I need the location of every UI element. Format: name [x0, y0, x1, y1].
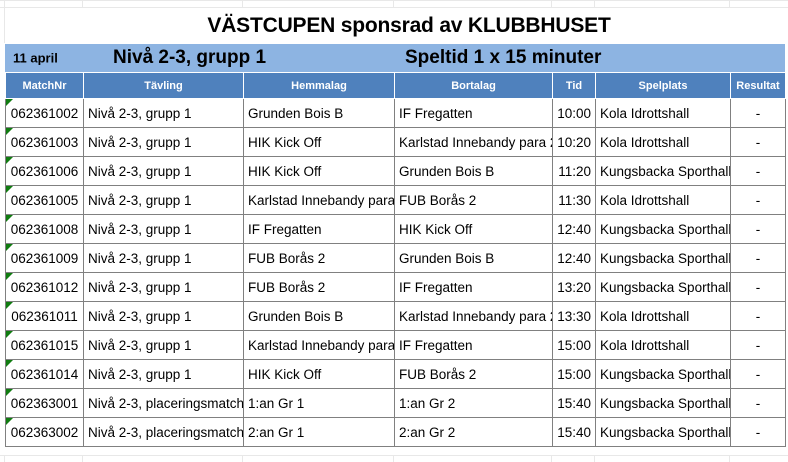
error-indicator-icon — [6, 99, 13, 106]
cell-tid[interactable]: 15:00 — [553, 331, 596, 360]
cell-tavling[interactable]: Nivå 2-3, grupp 1 — [84, 331, 244, 360]
sheet-gridline-vertical — [729, 0, 730, 8]
error-indicator-icon — [6, 360, 13, 367]
error-indicator-icon — [6, 273, 13, 280]
cell-bortalag[interactable]: HIK Kick Off — [395, 215, 553, 244]
table-row[interactable]: 062361009Nivå 2-3, grupp 1FUB Borås 2Gru… — [6, 244, 786, 273]
sheet-gridline-horizontal — [0, 0, 788, 1]
table-row[interactable]: 062361015Nivå 2-3, grupp 1Karlstad Inneb… — [6, 331, 786, 360]
cell-spelplats[interactable]: Kungsbacka Sporthall A — [596, 215, 731, 244]
table-row[interactable]: 062361008Nivå 2-3, grupp 1IF FregattenHI… — [6, 215, 786, 244]
cell-resultat[interactable]: - — [731, 99, 786, 128]
cell-spelplats[interactable]: Kungsbacka Sporthall B — [596, 157, 731, 186]
cell-resultat[interactable]: - — [731, 360, 786, 389]
column-header-tavling[interactable]: Tävling — [84, 73, 244, 99]
sheet-gridline-horizontal — [0, 455, 788, 456]
cell-tavling[interactable]: Nivå 2-3, grupp 1 — [84, 215, 244, 244]
sheet-gridline-vertical — [242, 456, 243, 462]
page-title: VÄSTCUPEN sponsrad av KLUBBHUSET — [207, 14, 610, 38]
cell-matchnr[interactable]: 062361014 — [6, 360, 84, 389]
cell-hemmalag[interactable]: HIK Kick Off — [244, 128, 395, 157]
error-indicator-icon — [6, 128, 13, 135]
error-indicator-icon — [6, 244, 13, 251]
cell-tavling[interactable]: Nivå 2-3, grupp 1 — [84, 157, 244, 186]
cell-tid[interactable]: 13:30 — [553, 302, 596, 331]
cell-matchnr[interactable]: 062363002 — [6, 418, 84, 447]
column-header-bortalag[interactable]: Bortalag — [395, 73, 553, 99]
cell-resultat[interactable]: - — [731, 215, 786, 244]
error-indicator-icon — [6, 186, 13, 193]
sheet-gridline-vertical — [82, 456, 83, 462]
cell-hemmalag[interactable]: HIK Kick Off — [244, 157, 395, 186]
cell-hemmalag[interactable]: Grunden Bois B — [244, 302, 395, 331]
cell-bortalag[interactable]: 2:an Gr 2 — [395, 418, 553, 447]
cell-hemmalag[interactable]: IF Fregatten — [244, 215, 395, 244]
banner-date-label: 11 april — [13, 51, 58, 66]
sheet-gridline-vertical — [551, 0, 552, 8]
error-indicator-icon — [6, 215, 13, 222]
cell-bortalag[interactable]: 1:an Gr 2 — [395, 389, 553, 418]
column-header-matchnr[interactable]: MatchNr — [6, 73, 84, 99]
cell-hemmalag[interactable]: Grunden Bois B — [244, 99, 395, 128]
cell-spelplats[interactable]: Kungsbacka Sporthall B — [596, 273, 731, 302]
cell-spelplats[interactable]: Kola Idrottshall — [596, 331, 731, 360]
banner-playtime-label: Speltid 1 x 15 minuter — [405, 47, 601, 69]
cell-hemmalag[interactable]: 2:an Gr 1 — [244, 418, 395, 447]
schedule-banner: 11 april Nivå 2-3, grupp 1 Speltid 1 x 1… — [5, 44, 785, 72]
table-body: 062361002Nivå 2-3, grupp 1Grunden Bois B… — [6, 99, 786, 447]
cell-spelplats[interactable]: Kungsbacka Sporthall B — [596, 418, 731, 447]
cell-tid[interactable]: 15:40 — [553, 389, 596, 418]
sheet-gridline-vertical — [82, 0, 83, 8]
cell-tavling[interactable]: Nivå 2-3, grupp 1 — [84, 186, 244, 215]
cell-tid[interactable]: 15:00 — [553, 360, 596, 389]
sheet-gridline-vertical — [551, 456, 552, 462]
table-row[interactable]: 062363001Nivå 2-3, placeringsmatcher1:an… — [6, 389, 786, 418]
cell-resultat[interactable]: - — [731, 244, 786, 273]
cell-spelplats[interactable]: Kola Idrottshall — [596, 128, 731, 157]
cell-bortalag[interactable]: FUB Borås 2 — [395, 360, 553, 389]
cell-bortalag[interactable]: FUB Borås 2 — [395, 186, 553, 215]
cell-tavling[interactable]: Nivå 2-3, placeringsmatcher — [84, 418, 244, 447]
cell-spelplats[interactable]: Kungsbacka Sporthall A — [596, 389, 731, 418]
cell-spelplats[interactable]: Kola Idrottshall — [596, 302, 731, 331]
table-row[interactable]: 062361006Nivå 2-3, grupp 1HIK Kick OffGr… — [6, 157, 786, 186]
cell-resultat[interactable]: - — [731, 302, 786, 331]
cell-matchnr[interactable]: 062361005 — [6, 186, 84, 215]
error-indicator-icon — [6, 418, 13, 425]
cell-hemmalag[interactable]: FUB Borås 2 — [244, 244, 395, 273]
error-indicator-icon — [6, 157, 13, 164]
cell-tid[interactable]: 11:20 — [553, 157, 596, 186]
cell-matchnr[interactable]: 062361006 — [6, 157, 84, 186]
error-indicator-icon — [6, 331, 13, 338]
cell-tid[interactable]: 13:20 — [553, 273, 596, 302]
cell-resultat[interactable]: - — [731, 128, 786, 157]
cell-bortalag[interactable]: IF Fregatten — [395, 99, 553, 128]
cell-resultat[interactable]: - — [731, 186, 786, 215]
cell-matchnr[interactable]: 062361003 — [6, 128, 84, 157]
column-header-tid[interactable]: Tid — [553, 73, 596, 99]
cell-tavling[interactable]: Nivå 2-3, placeringsmatcher — [84, 389, 244, 418]
sheet-gridline-vertical — [594, 0, 595, 8]
cell-tavling[interactable]: Nivå 2-3, grupp 1 — [84, 360, 244, 389]
sheet-gridline-vertical — [594, 456, 595, 462]
cell-tavling[interactable]: Nivå 2-3, grupp 1 — [84, 273, 244, 302]
sheet-gridline-vertical — [729, 456, 730, 462]
table-header-row: MatchNr Tävling Hemmalag Bortalag Tid Sp… — [6, 73, 786, 99]
cell-matchnr[interactable]: 062361002 — [6, 99, 84, 128]
cell-tid[interactable]: 10:20 — [553, 128, 596, 157]
table-row[interactable]: 062361011Nivå 2-3, grupp 1Grunden Bois B… — [6, 302, 786, 331]
column-header-resultat[interactable]: Resultat — [731, 73, 786, 99]
cell-hemmalag[interactable]: 1:an Gr 1 — [244, 389, 395, 418]
cell-resultat[interactable]: - — [731, 418, 786, 447]
cell-bortalag[interactable]: Karlstad Innebandy para 2 — [395, 128, 553, 157]
document-title-row: VÄSTCUPEN sponsrad av KLUBBHUSET — [5, 8, 785, 43]
column-header-hemmalag[interactable]: Hemmalag — [244, 73, 395, 99]
error-indicator-icon — [6, 389, 13, 396]
table-row[interactable]: 062361012Nivå 2-3, grupp 1FUB Borås 2IF … — [6, 273, 786, 302]
match-schedule-table: MatchNr Tävling Hemmalag Bortalag Tid Sp… — [5, 72, 786, 447]
cell-bortalag[interactable]: Karlstad Innebandy para 2 — [395, 302, 553, 331]
cell-tavling[interactable]: Nivå 2-3, grupp 1 — [84, 99, 244, 128]
cell-resultat[interactable]: - — [731, 273, 786, 302]
cell-hemmalag[interactable]: HIK Kick Off — [244, 360, 395, 389]
error-indicator-icon — [6, 302, 13, 309]
cell-resultat[interactable]: - — [731, 389, 786, 418]
cell-spelplats[interactable]: Kola Idrottshall — [596, 99, 731, 128]
cell-tavling[interactable]: Nivå 2-3, grupp 1 — [84, 302, 244, 331]
cell-matchnr[interactable]: 062361015 — [6, 331, 84, 360]
table-row[interactable]: 062363002Nivå 2-3, placeringsmatcher2:an… — [6, 418, 786, 447]
cell-tid[interactable]: 11:30 — [553, 186, 596, 215]
sheet-gridline-vertical — [4, 0, 5, 8]
cell-resultat[interactable]: - — [731, 157, 786, 186]
cell-tid[interactable]: 15:40 — [553, 418, 596, 447]
cell-hemmalag[interactable]: Karlstad Innebandy para 2 — [244, 186, 395, 215]
table-row[interactable]: 062361003Nivå 2-3, grupp 1HIK Kick OffKa… — [6, 128, 786, 157]
cell-hemmalag[interactable]: FUB Borås 2 — [244, 273, 395, 302]
cell-bortalag[interactable]: Grunden Bois B — [395, 244, 553, 273]
cell-tid[interactable]: 12:40 — [553, 215, 596, 244]
cell-spelplats[interactable]: Kungsbacka Sporthall A — [596, 360, 731, 389]
cell-matchnr[interactable]: 062361009 — [6, 244, 84, 273]
cell-tavling[interactable]: Nivå 2-3, grupp 1 — [84, 244, 244, 273]
cell-hemmalag[interactable]: Karlstad Innebandy para 2 — [244, 331, 395, 360]
sheet-gridline-vertical — [393, 0, 394, 8]
sheet-gridline-vertical — [4, 456, 5, 462]
cell-spelplats[interactable]: Kola Idrottshall — [596, 186, 731, 215]
cell-tid[interactable]: 10:00 — [553, 99, 596, 128]
cell-bortalag[interactable]: IF Fregatten — [395, 273, 553, 302]
cell-matchnr[interactable]: 062363001 — [6, 389, 84, 418]
cell-bortalag[interactable]: IF Fregatten — [395, 331, 553, 360]
table-row[interactable]: 062361002Nivå 2-3, grupp 1Grunden Bois B… — [6, 99, 786, 128]
sheet-gridline-vertical — [242, 0, 243, 8]
cell-spelplats[interactable]: Kungsbacka Sporthall B — [596, 244, 731, 273]
cell-matchnr[interactable]: 062361011 — [6, 302, 84, 331]
cell-bortalag[interactable]: Grunden Bois B — [395, 157, 553, 186]
banner-group-label: Nivå 2-3, grupp 1 — [113, 47, 266, 69]
cell-tavling[interactable]: Nivå 2-3, grupp 1 — [84, 128, 244, 157]
cell-matchnr[interactable]: 062361012 — [6, 273, 84, 302]
table-row[interactable]: 062361014Nivå 2-3, grupp 1HIK Kick OffFU… — [6, 360, 786, 389]
column-header-spelplats[interactable]: Spelplats — [596, 73, 731, 99]
sheet-gridline-vertical — [393, 456, 394, 462]
table-row[interactable]: 062361005Nivå 2-3, grupp 1Karlstad Inneb… — [6, 186, 786, 215]
cell-matchnr[interactable]: 062361008 — [6, 215, 84, 244]
cell-resultat[interactable]: - — [731, 331, 786, 360]
cell-tid[interactable]: 12:40 — [553, 244, 596, 273]
